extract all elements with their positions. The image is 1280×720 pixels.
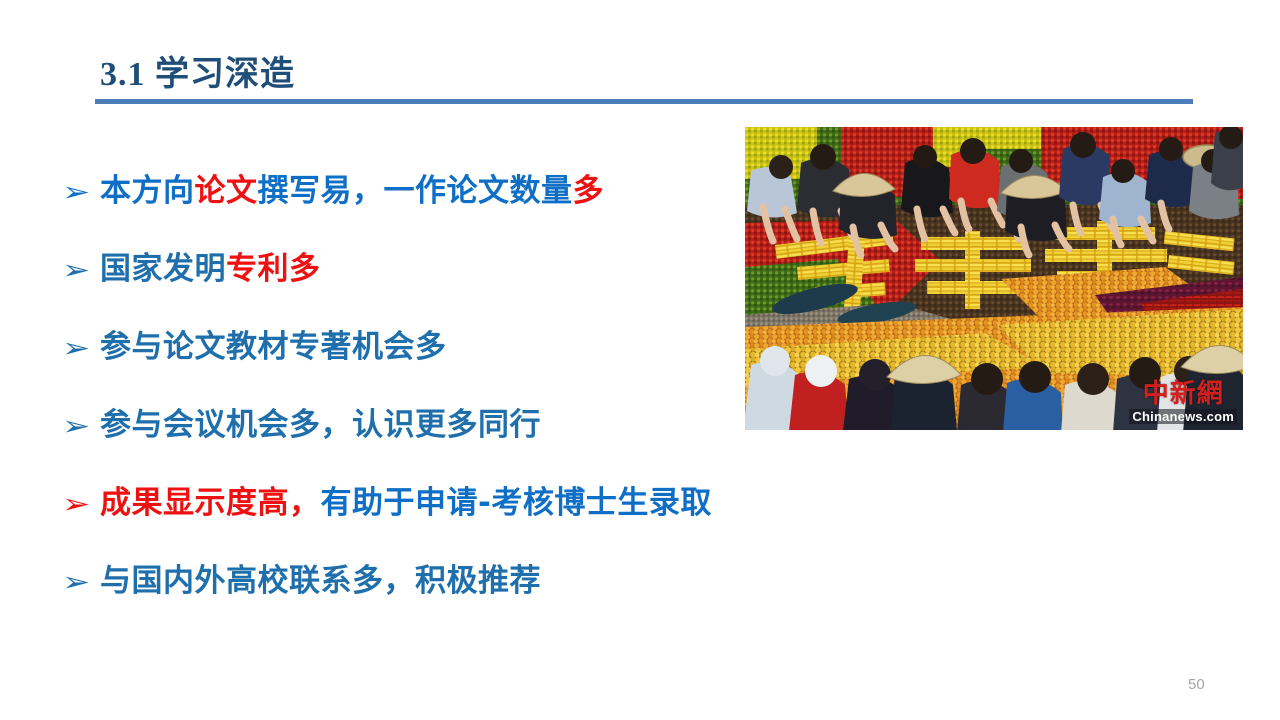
photo-watermark: 中新網 Chinanews.com [1129,381,1237,424]
bullet-segment-2: 专利多 [226,251,321,287]
bullet-segment-1: 参与论文教材专著机会多 [100,329,447,365]
bullet-arrow-icon: ➢ [62,310,110,388]
bullet-item-1: ➢本方向论文撰写易，一作论文数量多 [62,152,762,230]
bullet-item-6: ➢与国内外高校联系多，积极推荐 [62,542,762,620]
bullet-segment-1: 参与会议机会多，认识更多同行 [100,407,541,443]
bullet-item-label: 国家发明专利多 [100,230,321,308]
bullet-segment-1: 与国内外高校联系多，积极推荐 [100,563,541,599]
page-title: 3.1 学习深造 [100,46,295,95]
bullet-segment-2: 有助于申请-考核博士生录取 [321,485,712,521]
bullet-segment-4: 多 [573,173,605,209]
watermark-en-text: Chinanews.com [1129,409,1237,424]
bullet-item-label: 参与会议机会多，认识更多同行 [100,386,541,464]
page-number: 50 [1188,676,1205,693]
bullet-item-label: 成果显示度高，有助于申请-考核博士生录取 [100,464,712,542]
bullet-item-4: ➢参与会议机会多，认识更多同行 [62,386,762,464]
bullet-item-label: 本方向论文撰写易，一作论文数量多 [100,152,604,230]
bullet-arrow-icon: ➢ [62,466,110,544]
bullet-arrow-icon: ➢ [62,232,110,310]
bullet-arrow-icon: ➢ [62,388,110,466]
illustration-photo: 中新網 Chinanews.com [745,127,1243,430]
bullet-item-label: 参与论文教材专著机会多 [100,308,447,386]
slide-canvas: 3.1 学习深造 ➢本方向论文撰写易，一作论文数量多➢国家发明专利多➢参与论文教… [0,0,1280,720]
bullet-item-2: ➢国家发明专利多 [62,230,762,308]
bullet-item-label: 与国内外高校联系多，积极推荐 [100,542,541,620]
bullet-segment-3: 撰写易，一作论文数量 [258,173,573,209]
title-number: 3.1 [100,56,146,93]
bullet-list: ➢本方向论文撰写易，一作论文数量多➢国家发明专利多➢参与论文教材专著机会多➢参与… [62,152,762,620]
bullet-arrow-icon: ➢ [62,544,110,622]
bullet-item-5: ➢成果显示度高，有助于申请-考核博士生录取 [62,464,922,542]
bullet-segment-1: 成果显示度高， [100,485,321,521]
title-divider [95,99,1193,104]
bullet-segment-1: 本方向 [100,173,195,209]
bullet-item-3: ➢参与论文教材专著机会多 [62,308,762,386]
title-text: 学习深造 [155,56,295,93]
watermark-cn-text: 中新網 [1129,381,1237,407]
bullet-segment-1: 国家发明 [100,251,226,287]
bullet-segment-2: 论文 [195,173,258,209]
bullet-arrow-icon: ➢ [62,154,110,232]
